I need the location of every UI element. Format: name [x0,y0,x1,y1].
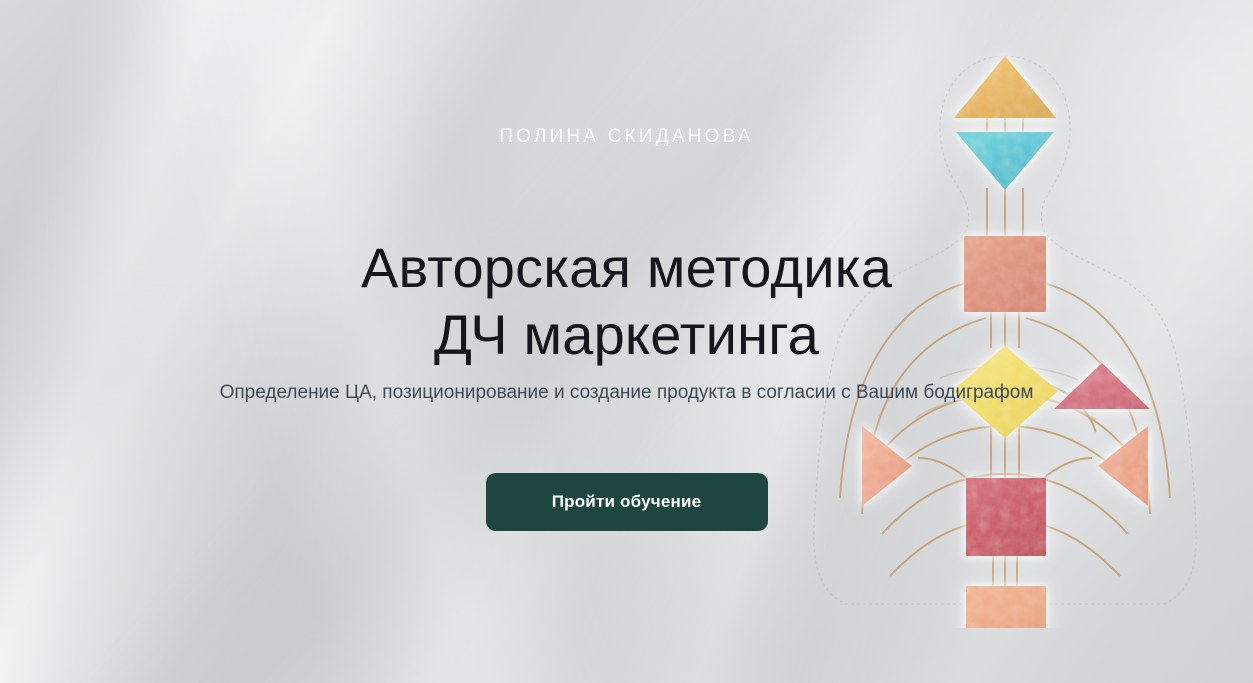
page-title-line-1: Авторская методика [361,236,892,299]
hero-section: ПОЛИНА СКИДАНОВА Авторская методика ДЧ м… [0,0,1253,683]
cta-container: Пройти обучение [0,473,1253,531]
start-training-button[interactable]: Пройти обучение [486,473,768,531]
page-title: Авторская методика ДЧ маркетинга [0,234,1253,370]
page-title-line-2: ДЧ маркетинга [0,301,1253,369]
hero-content: ПОЛИНА СКИДАНОВА Авторская методика ДЧ м… [0,0,1253,683]
page-subtitle: Определение ЦА, позиционирование и созда… [0,380,1253,406]
author-name-eyebrow: ПОЛИНА СКИДАНОВА [0,126,1253,148]
